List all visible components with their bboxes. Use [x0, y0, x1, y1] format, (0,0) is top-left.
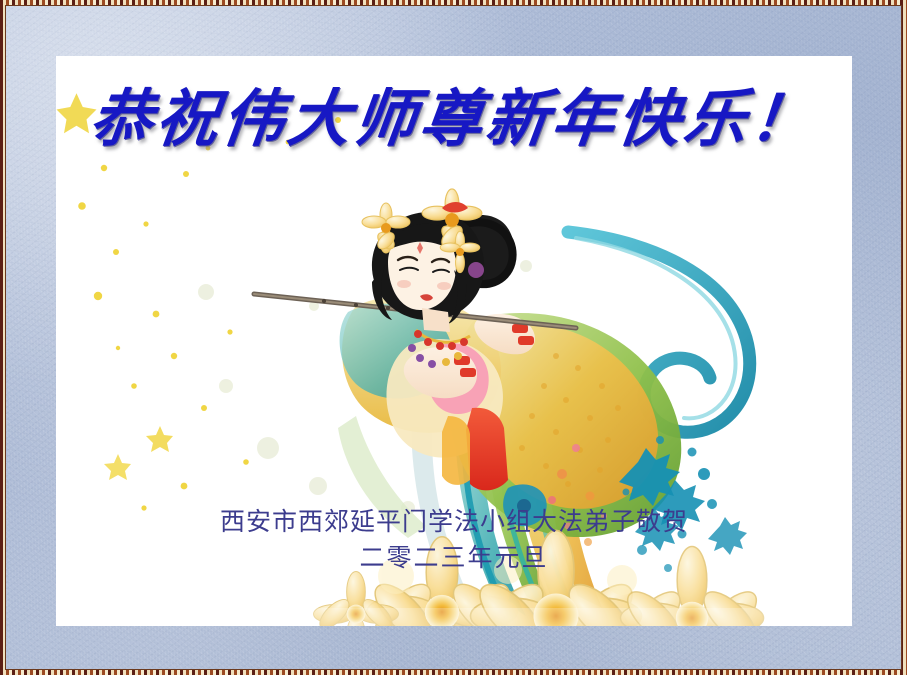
pale-specks	[198, 260, 650, 515]
flowing-ribbons	[411, 356, 602, 616]
flower-hair-ornament	[362, 189, 484, 278]
page-title: 恭祝伟大师尊新年快乐！	[56, 68, 852, 158]
white-greeting-card: 恭祝伟大师尊新年快乐！ 西安市西郊延平门学法小组大法弟子敬贺 二零二三年元旦	[56, 56, 852, 626]
arms	[404, 314, 535, 398]
signature-block: 西安市西郊延平门学法小组大法弟子敬贺 二零二三年元旦	[56, 504, 852, 576]
bracelets	[454, 324, 534, 377]
necklace	[408, 330, 470, 368]
signature-line-organization: 西安市西郊延平门学法小组大法弟子敬贺	[56, 504, 852, 540]
robe	[338, 296, 681, 538]
signature-line-date: 二零二三年元旦	[56, 540, 852, 576]
teal-ribbon-loop	[568, 232, 750, 432]
bamboo-flute	[254, 294, 576, 328]
maiden-head	[372, 212, 514, 332]
greeting-card-image: 恭祝伟大师尊新年快乐！ 西安市西郊延平门学法小组大法弟子敬贺 二零二三年元旦	[0, 0, 907, 675]
